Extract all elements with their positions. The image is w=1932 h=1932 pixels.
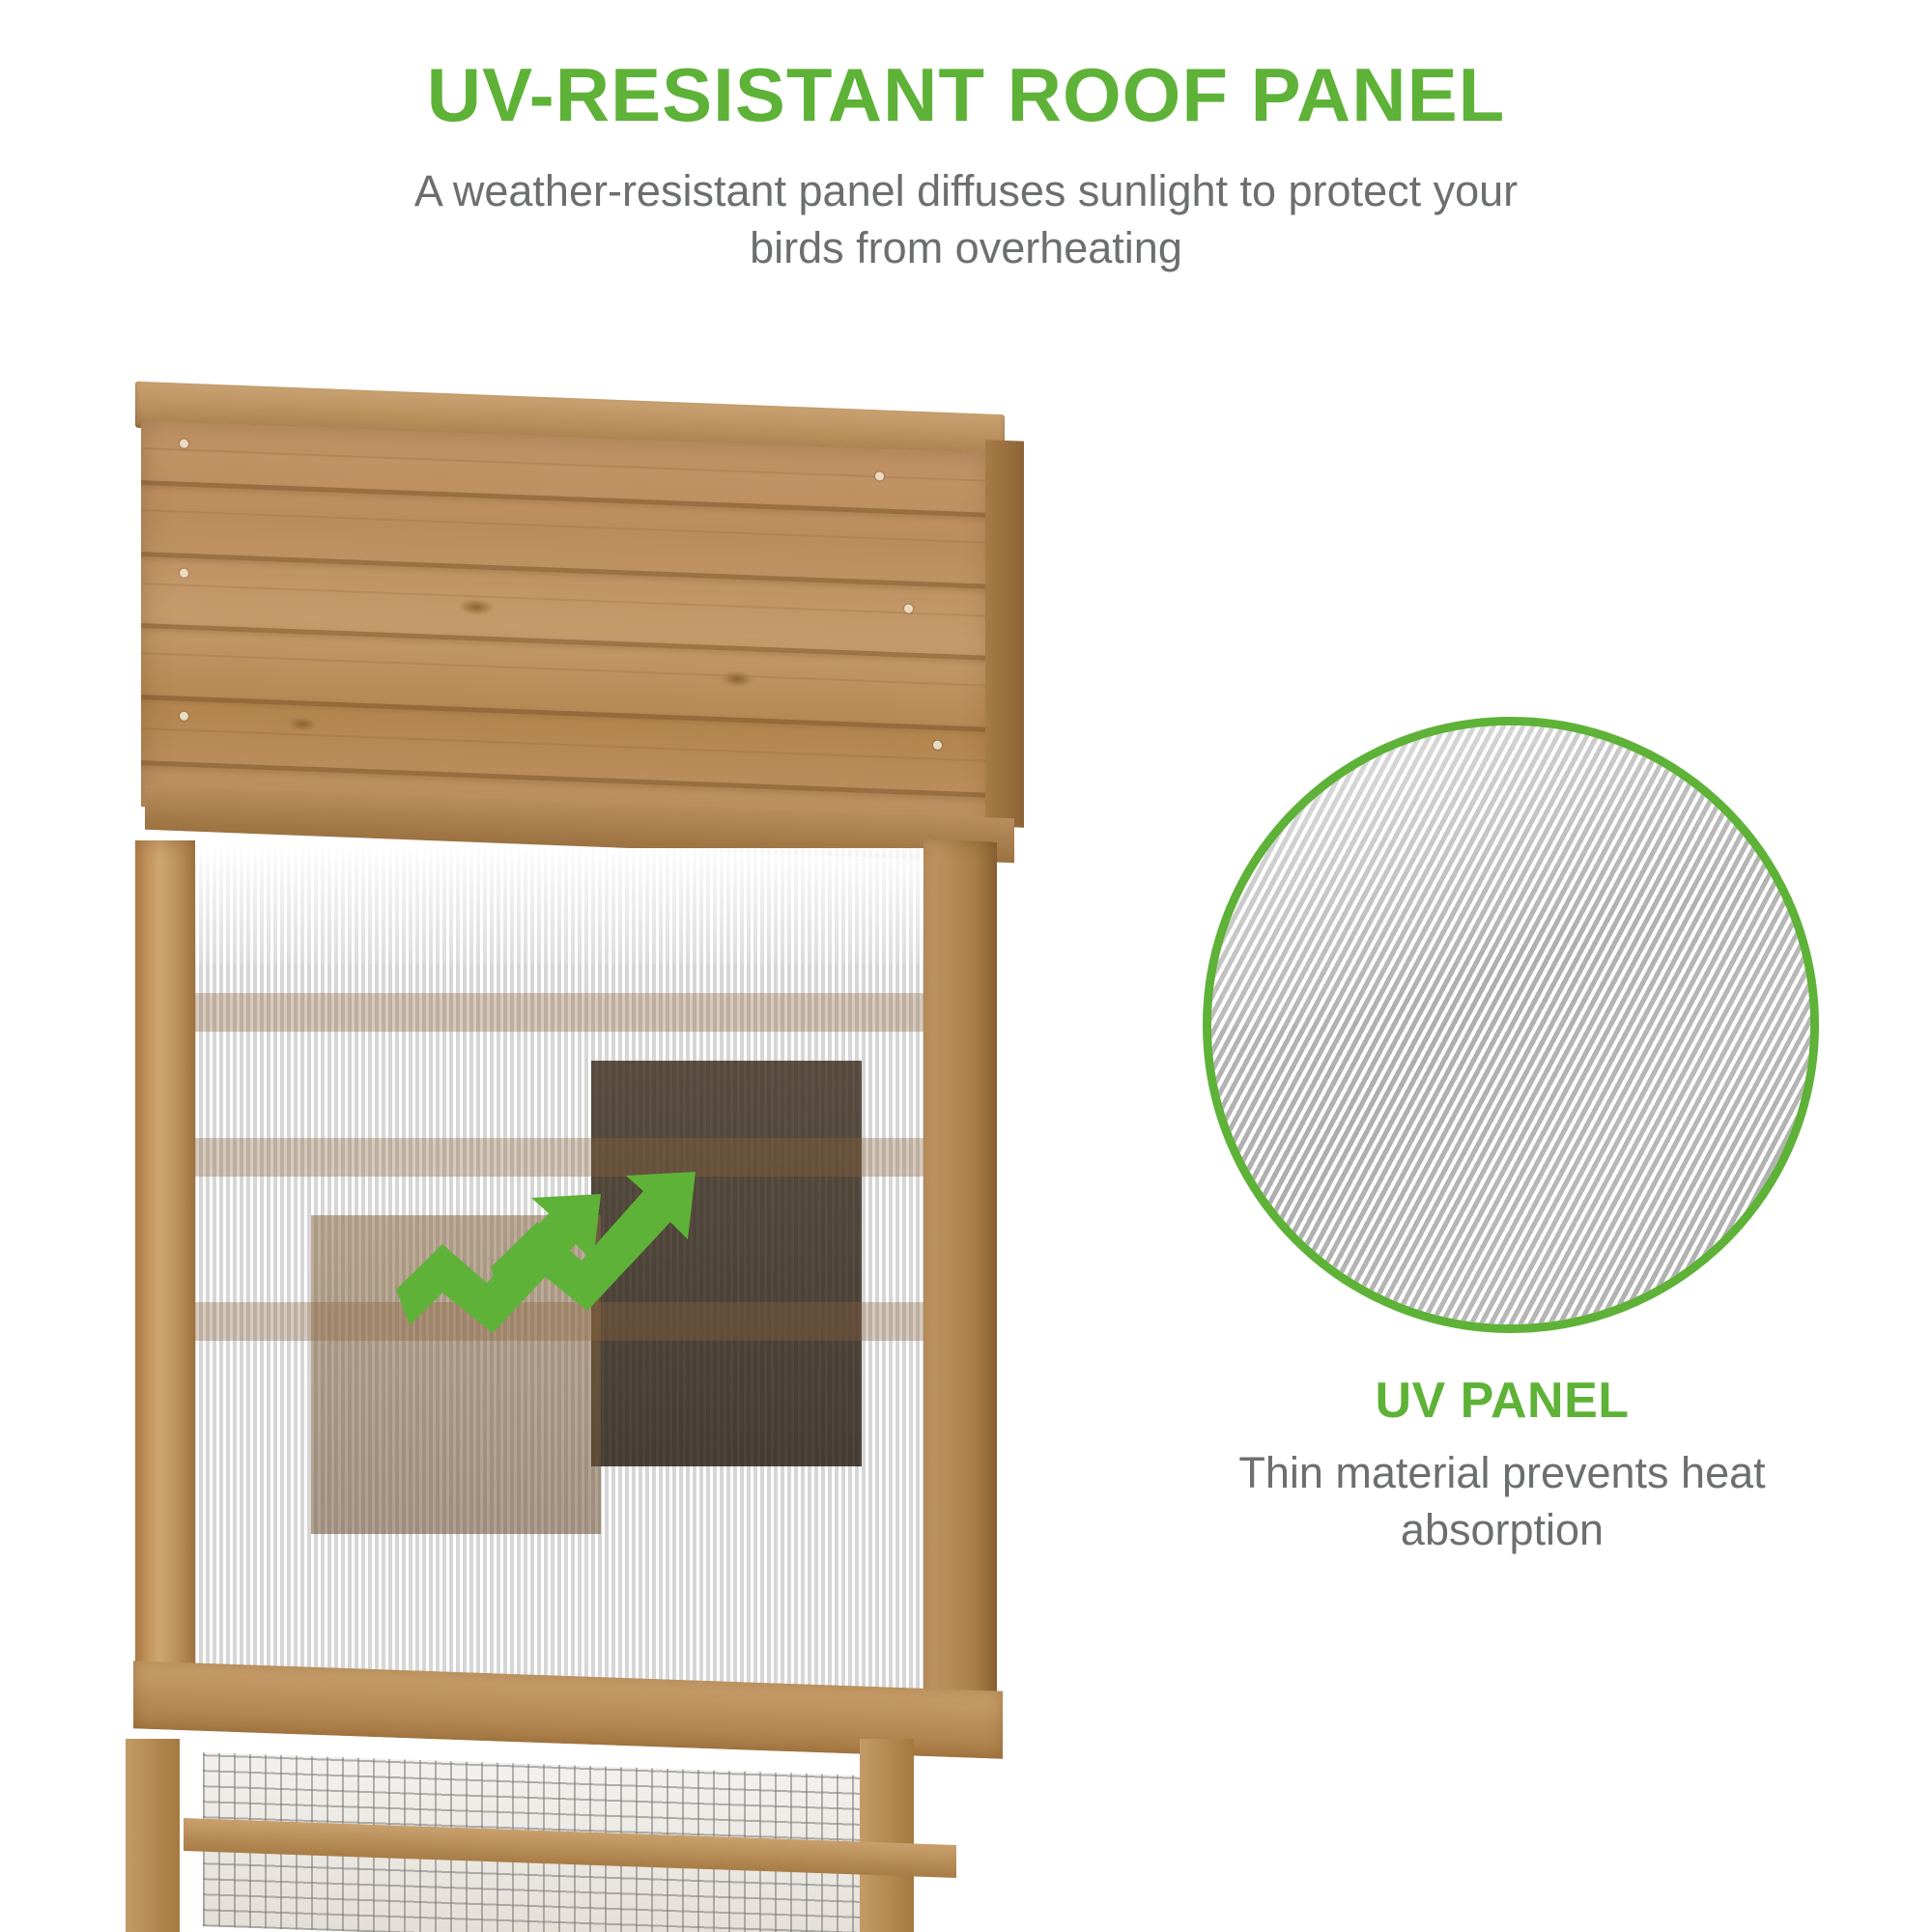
callout-title: UV PANEL [1203,1372,1802,1430]
coop-right-post [923,838,997,1712]
coop-roof [135,398,1034,852]
coop-left-post [135,840,195,1710]
page-subtitle: A weather-resistant panel diffuses sunli… [362,162,1570,277]
callout-description: Thin material prevents heat absorption [1203,1445,1802,1558]
page-title: UV-RESISTANT ROOF PANEL [0,56,1932,135]
roof-right-edge [985,440,1024,828]
green-double-arrow-icon [386,1121,724,1343]
coop-lower-run [126,1739,1005,1932]
product-photo [116,386,1072,1932]
uv-panel-sheen [1203,717,1819,1025]
header: UV-RESISTANT ROOF PANEL A weather-resist… [0,0,1932,277]
uv-panel-callout: UV PANEL Thin material prevents heat abs… [1203,717,1802,1558]
uv-panel-closeup-circle [1203,717,1819,1333]
roof-planks [141,420,991,839]
